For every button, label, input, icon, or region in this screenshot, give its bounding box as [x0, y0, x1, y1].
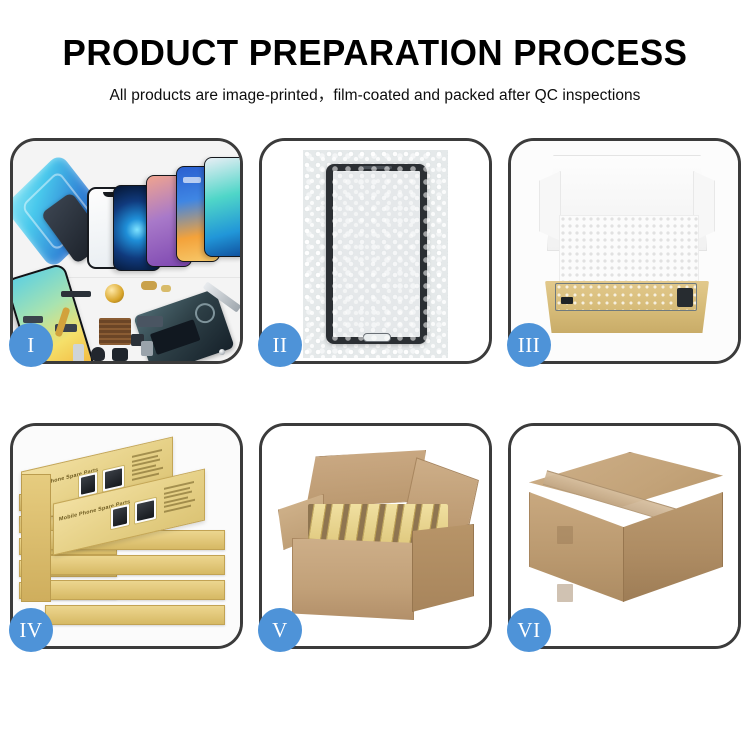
- vibrator-part-icon: [112, 348, 128, 361]
- step-badge-3: III: [507, 323, 551, 367]
- microphone-icon: [141, 341, 153, 356]
- step-badge-4: IV: [9, 608, 53, 652]
- stack-side-face: [21, 474, 51, 602]
- connector-small-icon: [161, 285, 171, 292]
- carton-side-face: [412, 524, 474, 612]
- sealed-carton-scene: [529, 452, 723, 624]
- step-4-image: Mobile Phone Spare Parts Mobile Phone Sp…: [13, 426, 240, 646]
- box-thumbnail-icon: [134, 497, 157, 525]
- process-step-grid: I II III: [10, 138, 740, 675]
- camera-module-icon: [137, 316, 163, 327]
- packed-part-icon: [555, 283, 697, 311]
- step-1-image: [13, 141, 240, 361]
- page-header: PRODUCT PREPARATION PROCESS All products…: [0, 0, 750, 105]
- page-title: PRODUCT PREPARATION PROCESS: [11, 34, 739, 72]
- carton-handle-tab-icon: [557, 526, 573, 544]
- phone-screen-icon: [326, 164, 427, 344]
- sim-tray-icon: [73, 344, 84, 361]
- step-5-image: [262, 426, 489, 646]
- process-step-4: Mobile Phone Spare Parts Mobile Phone Sp…: [10, 423, 243, 649]
- chip-array-icon: [99, 318, 131, 345]
- carton-handle-tab-icon: [557, 584, 573, 602]
- open-carton-scene: [278, 452, 476, 628]
- flex-cable-icon: [61, 291, 91, 297]
- process-step-6: VI: [508, 423, 741, 649]
- box-stack-scene: Mobile Phone Spare Parts Mobile Phone Sp…: [19, 438, 234, 634]
- stacked-box: [45, 605, 225, 625]
- process-step-3: III: [508, 138, 741, 364]
- stacked-box: [45, 580, 225, 600]
- carton-front-left-face: [529, 492, 624, 602]
- box-thumbnail-icon: [110, 503, 130, 531]
- step-badge-5: V: [258, 608, 302, 652]
- process-step-1: I: [10, 138, 243, 364]
- antenna-strip-icon: [23, 316, 43, 323]
- screws-icon: [219, 347, 240, 361]
- carton-front-face: [292, 538, 414, 620]
- step-6-image: [511, 426, 738, 646]
- open-box-scene: [539, 155, 715, 345]
- stacked-box: [45, 555, 225, 575]
- process-step-2: II: [259, 138, 492, 364]
- step-badge-2: II: [258, 323, 302, 367]
- box-checklist: [164, 479, 204, 516]
- phone-parts-scene: [13, 141, 240, 361]
- phone-teal-icon: [204, 157, 240, 257]
- step-badge-1: I: [9, 323, 53, 367]
- step-2-image: [262, 141, 489, 361]
- page-subtitle: All products are image-printed，film-coat…: [0, 83, 750, 105]
- earpiece-icon: [91, 347, 105, 361]
- connector-icon: [141, 281, 157, 290]
- box-flap-left-icon: [539, 171, 561, 241]
- step-badge-6: VI: [507, 608, 551, 652]
- speaker-part-icon: [105, 284, 124, 303]
- foam-padding-icon: [559, 215, 699, 287]
- step-3-image: [511, 141, 738, 361]
- process-step-5: V: [259, 423, 492, 649]
